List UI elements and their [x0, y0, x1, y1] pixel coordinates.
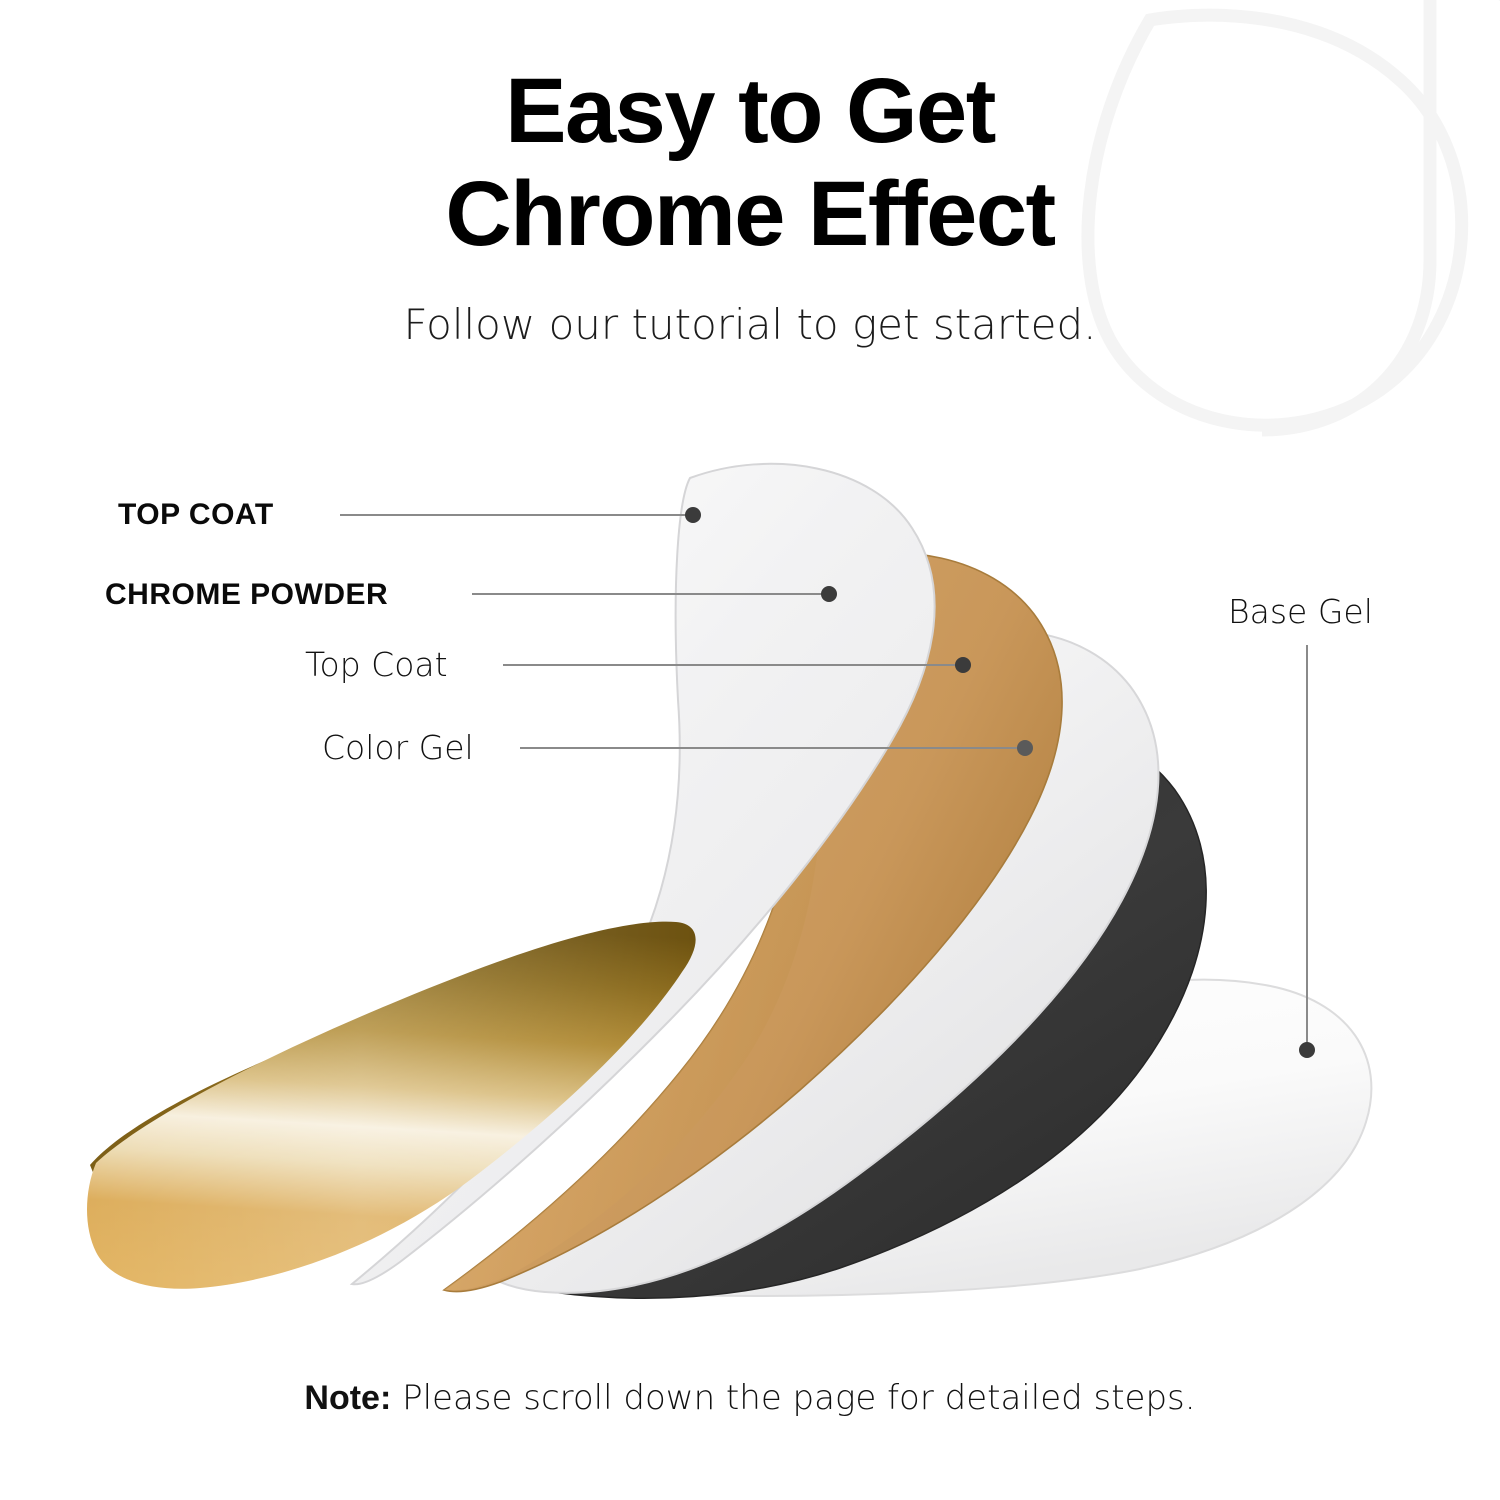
leader-dot-color-gel	[1017, 740, 1033, 756]
leader-dot-base-gel	[1299, 1042, 1315, 1058]
footer-note-prefix: Note:	[304, 1379, 391, 1417]
page-root: Easy to Get Chrome Effect Follow our tut…	[0, 0, 1500, 1500]
leader-dot-top-coat-upper	[685, 507, 701, 523]
footer-note-text: Please scroll down the page for detailed…	[391, 1378, 1195, 1418]
diagram-label-top-coat-upper: TOP COAT	[118, 498, 274, 532]
leader-dot-chrome-powder	[821, 586, 837, 602]
diagram-label-chrome-powder: CHROME POWDER	[105, 578, 388, 612]
diagram-label-top-coat-lower: Top Coat	[305, 645, 448, 684]
footer-note: Note: Please scroll down the page for de…	[0, 1378, 1500, 1418]
diagram-label-base-gel: Base Gel	[1228, 592, 1373, 631]
nail-layer-diagram	[0, 0, 1500, 1500]
diagram-label-color-gel: Color Gel	[322, 728, 474, 767]
leader-dot-top-coat-lower	[955, 657, 971, 673]
